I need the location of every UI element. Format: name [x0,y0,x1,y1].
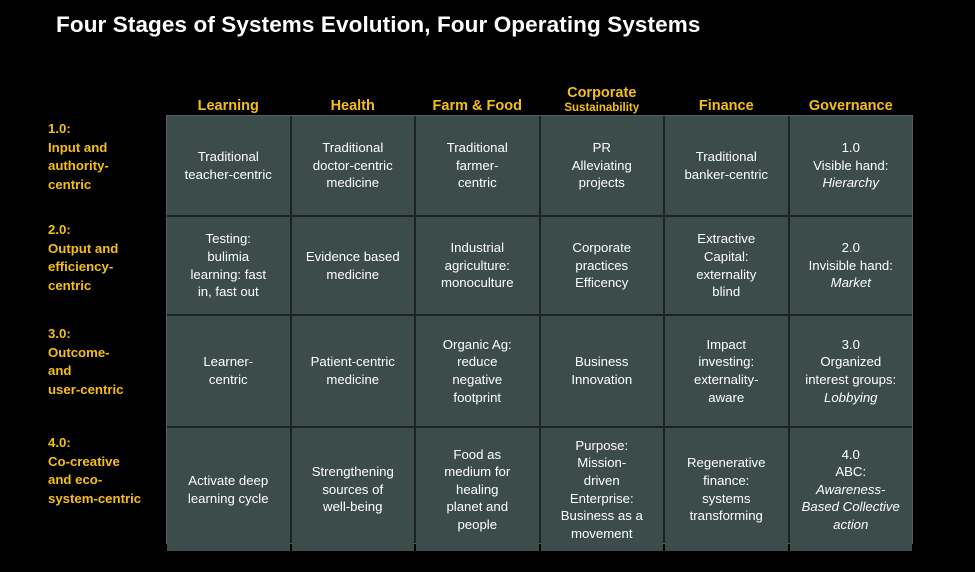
cell-emphasis-text: Hierarchy [823,175,879,190]
cell-text: 3.0 Organized interest groups: [805,337,896,387]
cell-text: Industrial agriculture: monoculture [441,239,514,292]
row-label-stage-3: 3.0: Outcome- and user-centric [48,325,166,400]
page-title: Four Stages of Systems Evolution, Four O… [56,12,700,38]
cell-text: Impact investing: externality- aware [694,336,759,406]
column-header-label: Farm & Food [433,99,522,114]
cell-text: Extractive Capital: externality blind [696,230,756,300]
column-header-corporate-sustainability: Corporate Sustainability [540,78,665,115]
cell-text: 1.0 Visible hand: [813,140,888,173]
cell-text: Traditional teacher-centric [185,148,272,183]
cell-text: Regenerative finance: systems transformi… [687,454,765,524]
cell-emphasis-text: Awareness- Based Collective action [802,482,900,532]
matrix-cell: Traditional teacher-centric [167,116,290,215]
matrix-cell: Testing: bulimia learning: fast in, fast… [167,217,290,314]
cell-text: Traditional doctor-centric medicine [313,139,393,192]
matrix-cell: Activate deep learning cycle [167,428,290,551]
column-header-learning: Learning [166,78,291,115]
matrix-cell: Business Innovation [541,316,664,426]
matrix-cell: Organic Ag: reduce negative footprint [416,316,539,426]
slide-canvas: Four Stages of Systems Evolution, Four O… [0,0,975,572]
matrix-cell: Learner- centric [167,316,290,426]
cell-text: Food as medium for healing planet and pe… [444,446,510,534]
matrix-grid: Traditional teacher-centric Traditional … [166,115,913,544]
systems-evolution-matrix: Learning Health Farm & Food Corporate Su… [166,78,913,544]
matrix-cell: PR Alleviating projects [541,116,664,215]
column-header-health: Health [291,78,416,115]
cell-text: Testing: bulimia learning: fast in, fast… [190,230,266,300]
matrix-cell: 4.0 ABC: Awareness- Based Collective act… [790,428,913,551]
matrix-cell: Corporate practices Efficency [541,217,664,314]
cell-text: Organic Ag: reduce negative footprint [443,336,512,406]
row-label-stage-1: 1.0: Input and authority- centric [48,120,166,195]
row-label-stage-4: 4.0: Co-creative and eco- system-centric [48,434,166,509]
matrix-cell: Industrial agriculture: monoculture [416,217,539,314]
cell-text: Strengthening sources of well-being [312,463,394,516]
cell-text: Traditional banker-centric [684,148,768,183]
matrix-cell: 1.0 Visible hand: Hierarchy [790,116,913,215]
cell-text: Purpose: Mission- driven Enterprise: Bus… [561,437,643,542]
cell-text-block: 4.0 ABC: Awareness- Based Collective act… [802,446,900,534]
cell-text: Activate deep learning cycle [188,472,269,507]
cell-text: PR Alleviating projects [572,139,632,192]
matrix-cell: Traditional doctor-centric medicine [292,116,415,215]
matrix-cell: Evidence based medicine [292,217,415,314]
cell-text: 2.0 Invisible hand: [809,240,893,273]
matrix-cell: Strengthening sources of well-being [292,428,415,551]
cell-text: Business Innovation [571,353,632,388]
matrix-cell: Food as medium for healing planet and pe… [416,428,539,551]
cell-emphasis-text: Market [831,275,871,290]
matrix-cell: Traditional banker-centric [665,116,788,215]
cell-emphasis-text: Lobbying [824,390,878,405]
cell-text: Learner- centric [203,353,253,388]
matrix-cell: Patient-centric medicine [292,316,415,426]
cell-text: Corporate practices Efficency [572,239,631,292]
matrix-cell: Purpose: Mission- driven Enterprise: Bus… [541,428,664,551]
matrix-cell: Extractive Capital: externality blind [665,217,788,314]
column-header-label: Learning [198,99,259,114]
column-header-governance: Governance [789,78,914,115]
cell-text: 4.0 ABC: [835,447,866,480]
column-header-farm-and-food: Farm & Food [415,78,540,115]
matrix-cell: 3.0 Organized interest groups: Lobbying [790,316,913,426]
matrix-cell: Regenerative finance: systems transformi… [665,428,788,551]
column-header-sublabel: Sustainability [564,102,639,114]
row-label-stage-2: 2.0: Output and efficiency- centric [48,221,166,296]
matrix-cell: Traditional farmer- centric [416,116,539,215]
matrix-cell: 2.0 Invisible hand: Market [790,217,913,314]
cell-text: Evidence based medicine [306,248,400,283]
column-header-label: Corporate [567,86,636,101]
column-header-label: Governance [809,99,893,114]
matrix-cell: Impact investing: externality- aware [665,316,788,426]
cell-text: Patient-centric medicine [311,353,395,388]
column-header-row: Learning Health Farm & Food Corporate Su… [166,78,913,115]
column-header-finance: Finance [664,78,789,115]
cell-text: Traditional farmer- centric [447,139,508,192]
cell-text-block: 3.0 Organized interest groups: Lobbying [805,336,896,406]
cell-text-block: 1.0 Visible hand: Hierarchy [813,139,888,192]
column-header-label: Finance [699,99,754,114]
cell-text-block: 2.0 Invisible hand: Market [809,239,893,292]
column-header-label: Health [331,99,375,114]
